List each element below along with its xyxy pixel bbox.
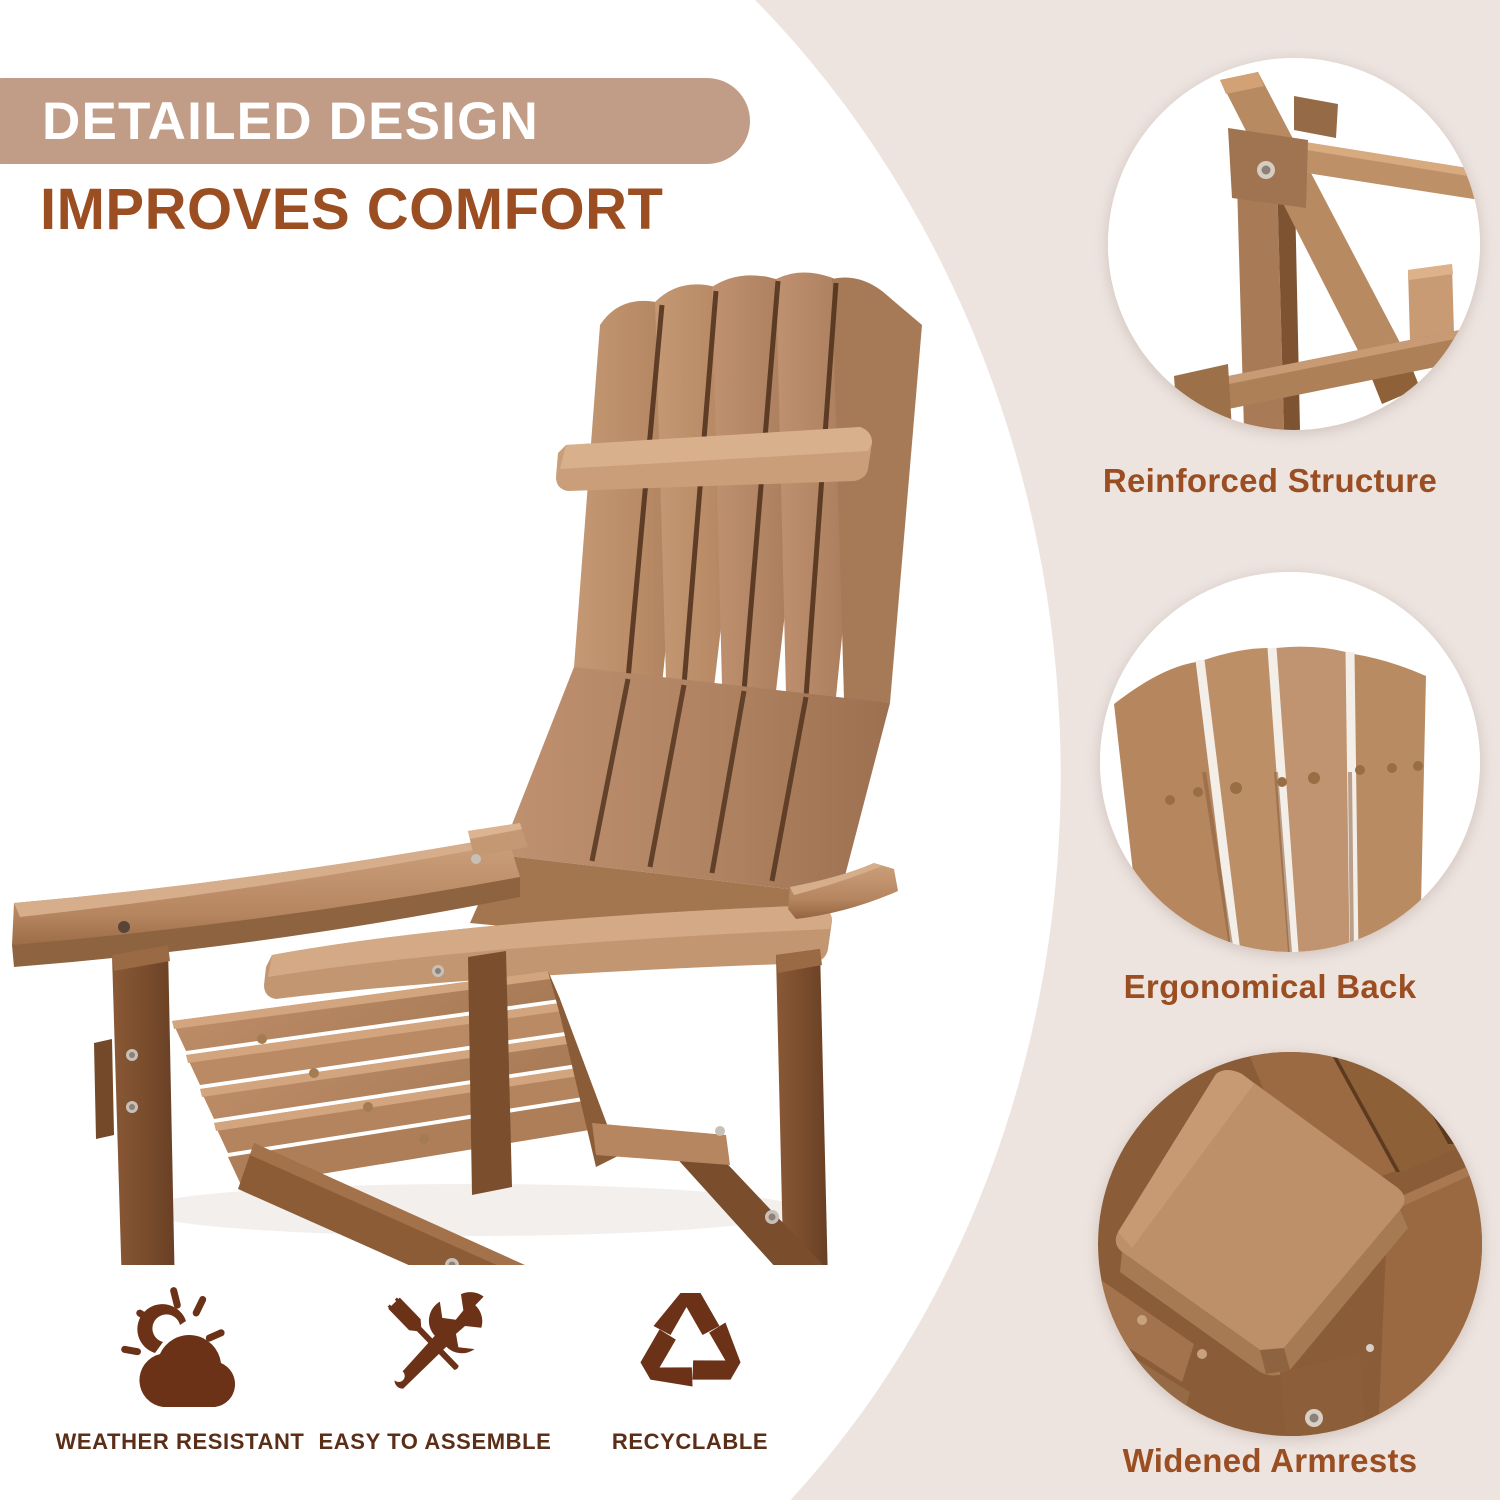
feature-label: WEATHER RESISTANT xyxy=(56,1429,305,1455)
detail-circle-reinforced-structure xyxy=(1108,58,1480,430)
feature-item: RECYCLABLE xyxy=(565,1280,815,1455)
feature-label: EASY TO ASSEMBLE xyxy=(319,1429,552,1455)
detail-circle-ergonomical-back xyxy=(1100,572,1480,952)
feature-strip: WEATHER RESISTANT EASY TO ASSEMBLE xyxy=(55,1280,815,1495)
detail-circle-widened-armrests xyxy=(1098,1052,1482,1436)
headline-badge: DETAILED DESIGN xyxy=(0,78,750,164)
chair-seat-slats xyxy=(172,971,608,1187)
detail-caption-widened-armrests: Widened Armrests xyxy=(1040,1442,1500,1480)
armrest-post-left xyxy=(94,945,176,1265)
leg-rear-right xyxy=(776,949,828,1265)
feature-item: WEATHER RESISTANT xyxy=(55,1280,305,1455)
product-infographic: DETAILED DESIGN IMPROVES COMFORT xyxy=(0,0,1500,1500)
wrench-screwdriver-icon xyxy=(373,1280,498,1415)
detail-caption-reinforced-structure: Reinforced Structure xyxy=(1040,462,1500,500)
sun-cloud-icon xyxy=(116,1280,244,1415)
leg-rear-left xyxy=(468,951,512,1195)
feature-label: RECYCLABLE xyxy=(612,1429,768,1455)
product-image-main xyxy=(0,255,1000,1265)
page-title: IMPROVES COMFORT xyxy=(40,176,663,243)
recycle-icon xyxy=(628,1280,753,1415)
badge-label: DETAILED DESIGN xyxy=(42,91,539,152)
detail-caption-ergonomical-back: Ergonomical Back xyxy=(1040,968,1500,1006)
feature-item: EASY TO ASSEMBLE xyxy=(310,1280,560,1455)
